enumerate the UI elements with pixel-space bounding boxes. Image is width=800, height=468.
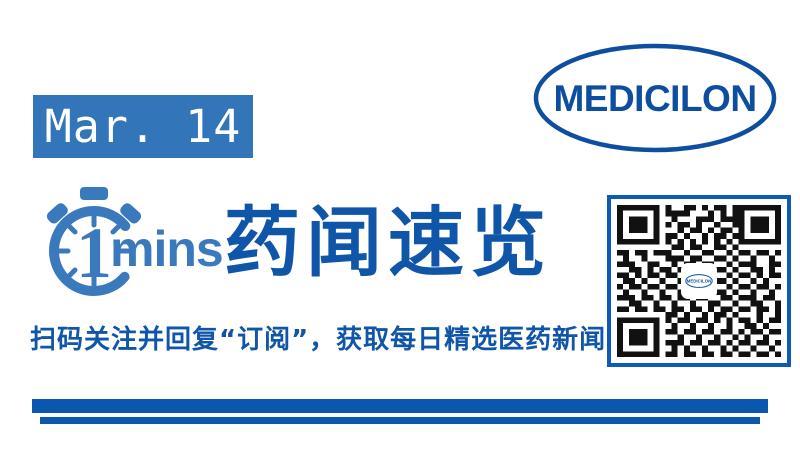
qr-code[interactable]: MEDICILON — [607, 195, 791, 367]
news-banner: Mar. 14 MEDICILON — [0, 0, 800, 468]
divider-thick — [32, 399, 768, 413]
qr-code-inner: MEDICILON — [617, 205, 781, 357]
page-title: 药闻速览 — [224, 203, 552, 283]
date-badge-label: Mar. 14 — [45, 104, 242, 149]
medicilon-logo-icon: MEDICILON — [533, 43, 777, 153]
qr-center-logo-text: MEDICILON — [687, 279, 712, 284]
qr-center-logo: MEDICILON — [681, 263, 717, 299]
medicilon-logo: MEDICILON — [533, 43, 777, 153]
subtitle-text: 扫码关注并回复“订阅”，获取每日精选医药新闻 — [30, 325, 606, 355]
qr-center-logo-icon: MEDICILON — [684, 273, 714, 289]
divider-thin — [40, 417, 760, 424]
mins-label: mins — [110, 224, 223, 274]
medicilon-wordmark: MEDICILON — [553, 78, 756, 119]
date-badge: Mar. 14 — [33, 95, 253, 158]
stopwatch-digit: 1 — [76, 213, 112, 293]
